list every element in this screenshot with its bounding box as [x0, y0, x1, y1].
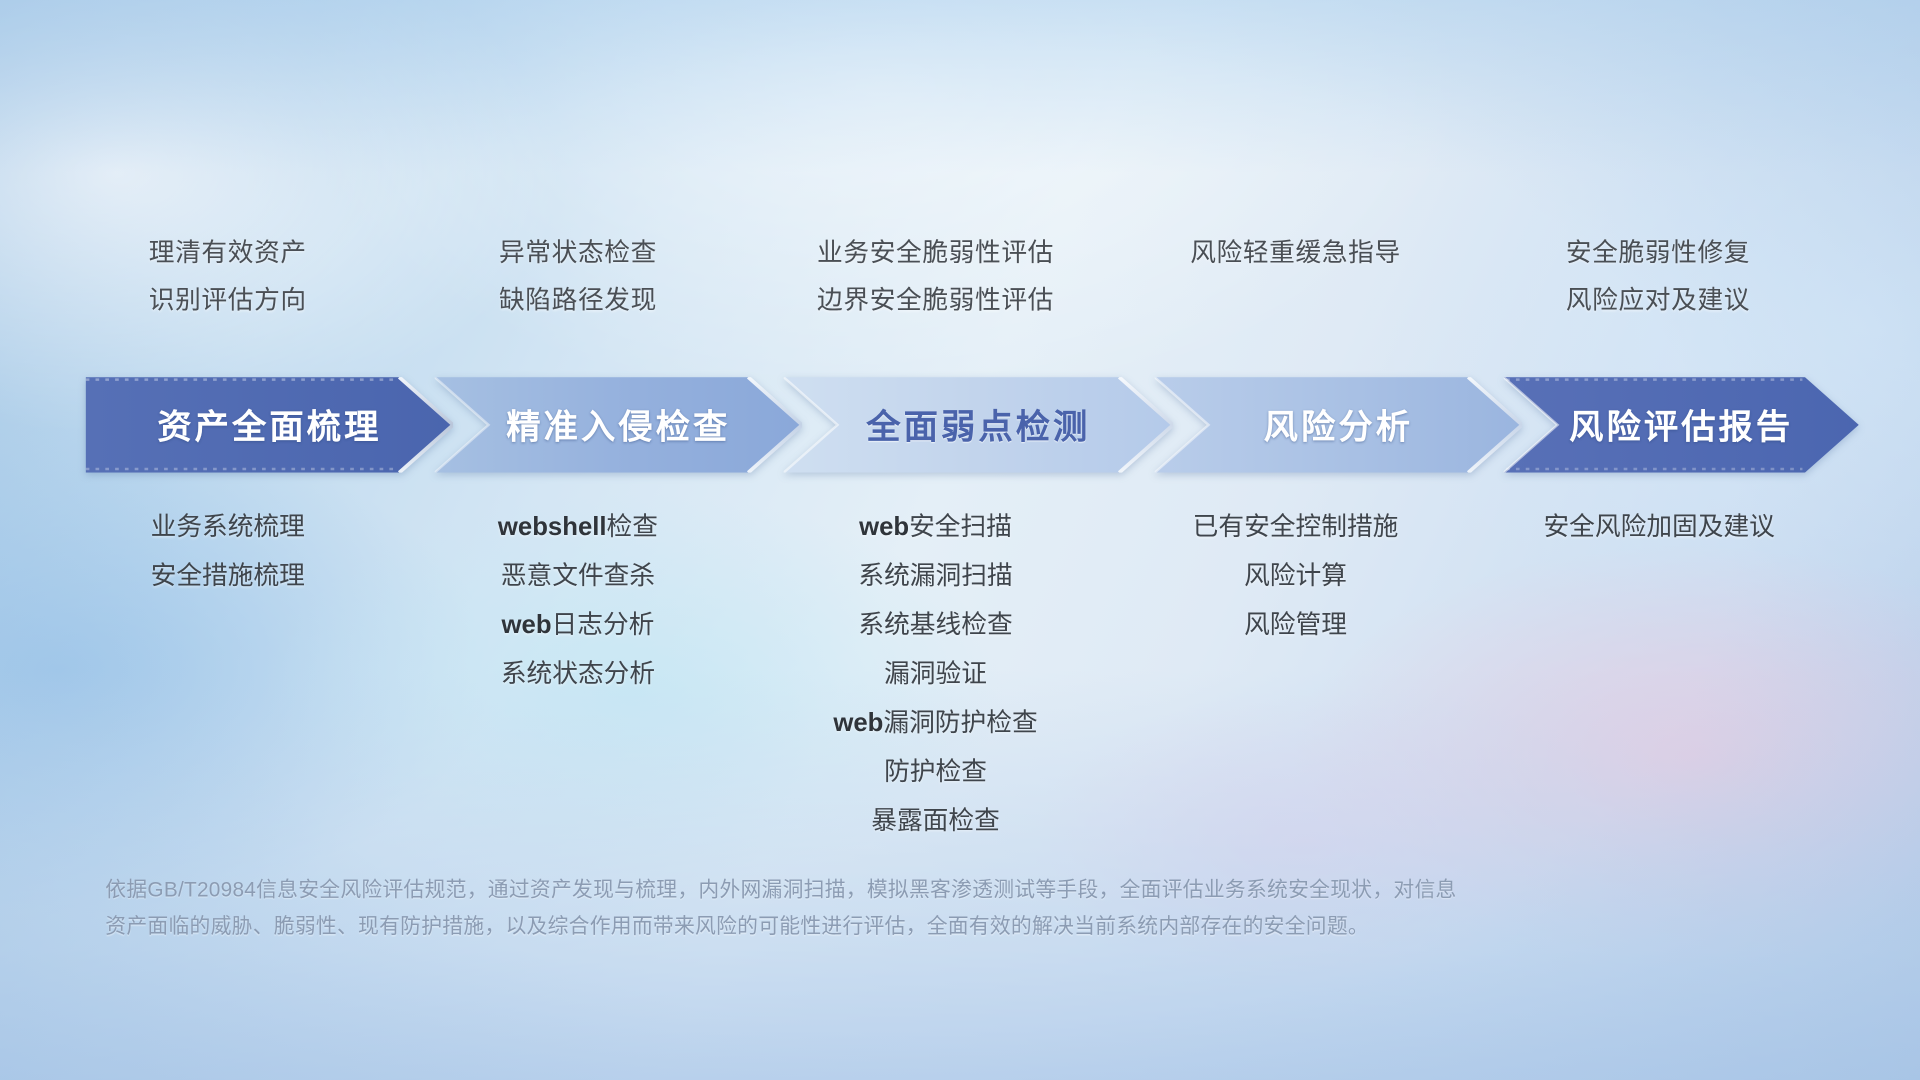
top-captions-stage-4: 风险轻重缓急指导 — [1112, 240, 1479, 266]
stage-chevron-5[interactable]: 风险评估报告 — [1504, 377, 1859, 473]
list-item-text: 安全扫描 — [909, 513, 1012, 541]
top-caption: 识别评估方向 — [44, 288, 411, 314]
list-item: 风险计算 — [1112, 563, 1479, 589]
list-item: 风险管理 — [1112, 612, 1479, 638]
list-item-prefix: web — [502, 611, 552, 639]
stage-chevron-4[interactable]: 风险分析 — [1155, 377, 1522, 473]
list-item-text: 日志分析 — [552, 611, 655, 639]
stage-label: 资产全面梳理 — [157, 400, 381, 449]
top-caption: 异常状态检查 — [394, 240, 761, 266]
list-item: webshell检查 — [394, 514, 761, 540]
footnote-line-2: 资产面临的威胁、脆弱性、现有防护措施，以及综合作用而带来风险的可能性进行评估，全… — [105, 908, 1819, 944]
list-item: 安全措施梳理 — [44, 563, 411, 589]
list-item: 系统状态分析 — [394, 661, 761, 687]
list-item-prefix: web — [833, 709, 883, 737]
list-item: 系统基线检查 — [747, 612, 1124, 638]
top-captions-stage-5: 安全脆弱性修复 风险应对及建议 — [1474, 240, 1841, 313]
process-stage-band: 资产全面梳理 精准入侵检查 — [0, 377, 1920, 473]
list-item: web漏洞防护检查 — [747, 710, 1124, 736]
footnote-line-1: 依据GB/T20984信息安全风险评估规范，通过资产发现与梳理，内外网漏洞扫描，… — [105, 872, 1819, 908]
stage-label: 风险评估报告 — [1569, 400, 1793, 449]
top-caption: 风险应对及建议 — [1474, 288, 1841, 314]
list-item: web日志分析 — [394, 612, 761, 638]
stage-items-3: web安全扫描 系统漏洞扫描 系统基线检查 漏洞验证 web漏洞防护检查 防护检… — [747, 514, 1124, 834]
top-caption: 缺陷路径发现 — [394, 288, 761, 314]
list-item: 系统漏洞扫描 — [747, 563, 1124, 589]
list-item-text: 漏洞防护检查 — [883, 709, 1037, 737]
stage-label: 全面弱点检测 — [866, 400, 1090, 449]
list-item: 业务系统梳理 — [44, 514, 411, 540]
stage-items-1: 业务系统梳理 安全措施梳理 — [44, 514, 411, 589]
stage-items-2: webshell检查 恶意文件查杀 web日志分析 系统状态分析 — [394, 514, 761, 687]
stage-chevron-2[interactable]: 精准入侵检查 — [435, 377, 802, 473]
top-captions-stage-3: 业务安全脆弱性评估 边界安全脆弱性评估 — [747, 240, 1124, 313]
list-item: 漏洞验证 — [747, 661, 1124, 687]
stage-chevron-3[interactable]: 全面弱点检测 — [784, 377, 1173, 473]
list-item: 暴露面检查 — [747, 808, 1124, 834]
top-caption: 业务安全脆弱性评估 — [747, 240, 1124, 266]
process-diagram: 理清有效资产 识别评估方向 异常状态检查 缺陷路径发现 业务安全脆弱性评估 边界… — [0, 0, 1920, 1080]
stage-items-4: 已有安全控制措施 风险计算 风险管理 — [1112, 514, 1479, 638]
list-item-text: 检查 — [607, 513, 658, 541]
stage-label: 风险分析 — [1264, 400, 1413, 449]
top-caption: 边界安全脆弱性评估 — [747, 288, 1124, 314]
top-captions-stage-1: 理清有效资产 识别评估方向 — [44, 240, 411, 313]
top-caption: 理清有效资产 — [44, 240, 411, 266]
list-item-prefix: web — [859, 513, 909, 541]
stage-items-5: 安全风险加固及建议 — [1457, 514, 1861, 540]
list-item: 防护检查 — [747, 759, 1124, 785]
list-item: 安全风险加固及建议 — [1457, 514, 1861, 540]
stage-label: 精准入侵检查 — [506, 400, 730, 449]
top-caption: 安全脆弱性修复 — [1474, 240, 1841, 266]
list-item: web安全扫描 — [747, 514, 1124, 540]
footnote: 依据GB/T20984信息安全风险评估规范，通过资产发现与梳理，内外网漏洞扫描，… — [105, 872, 1819, 945]
list-item: 已有安全控制措施 — [1112, 514, 1479, 540]
top-caption: 风险轻重缓急指导 — [1112, 240, 1479, 266]
top-captions-stage-2: 异常状态检查 缺陷路径发现 — [394, 240, 761, 313]
list-item-prefix: webshell — [498, 513, 607, 541]
top-captions-row: 理清有效资产 识别评估方向 异常状态检查 缺陷路径发现 业务安全脆弱性评估 边界… — [0, 0, 1920, 367]
stage-chevron-1[interactable]: 资产全面梳理 — [86, 377, 453, 473]
list-item: 恶意文件查杀 — [394, 563, 761, 589]
